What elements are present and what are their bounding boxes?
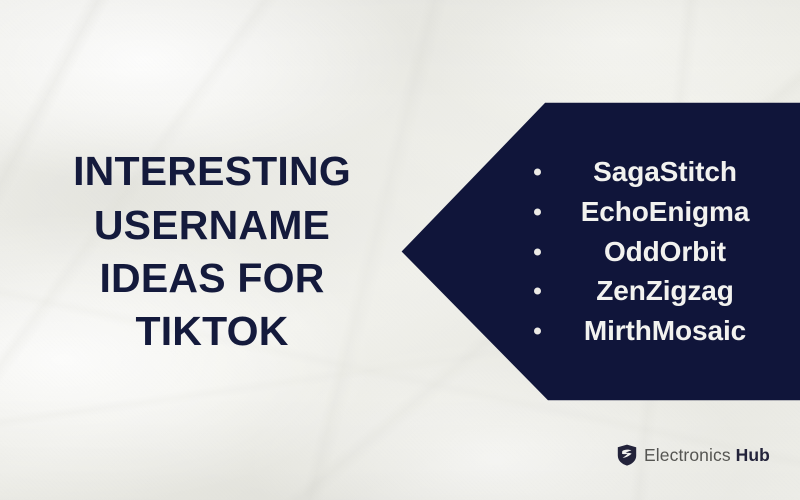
list-item: MirthMosaic [398, 311, 800, 351]
poster-canvas: INTERESTING USERNAME IDEAS FOR TIKTOK Sa… [0, 0, 800, 500]
brand-logo-text: Electronics Hub [644, 445, 770, 466]
list-item: SagaStitch [398, 152, 800, 192]
list-item-label: ZenZigzag [596, 275, 734, 306]
list-item: EchoEnigma [398, 192, 800, 232]
username-ideas-list: SagaStitch EchoEnigma OddOrbit ZenZigzag… [398, 101, 800, 402]
bullet-point-icon [534, 288, 541, 295]
brand-name-primary: Electronics [644, 445, 731, 465]
shield-swoosh-icon [617, 444, 637, 466]
list-item-label: SagaStitch [593, 156, 737, 187]
brand-logo: Electronics Hub [617, 444, 770, 466]
bullet-point-icon [534, 169, 541, 176]
poster-headline: INTERESTING USERNAME IDEAS FOR TIKTOK [34, 145, 390, 358]
brand-name-secondary: Hub [731, 445, 770, 465]
bullet-point-icon [534, 328, 541, 335]
list-item: OddOrbit [398, 232, 800, 272]
bullet-point-icon [534, 208, 541, 215]
list-item-label: OddOrbit [604, 236, 726, 267]
list-item-label: MirthMosaic [584, 315, 746, 346]
bullet-point-icon [534, 248, 541, 255]
list-item: ZenZigzag [398, 271, 800, 311]
list-item-label: EchoEnigma [581, 196, 750, 227]
